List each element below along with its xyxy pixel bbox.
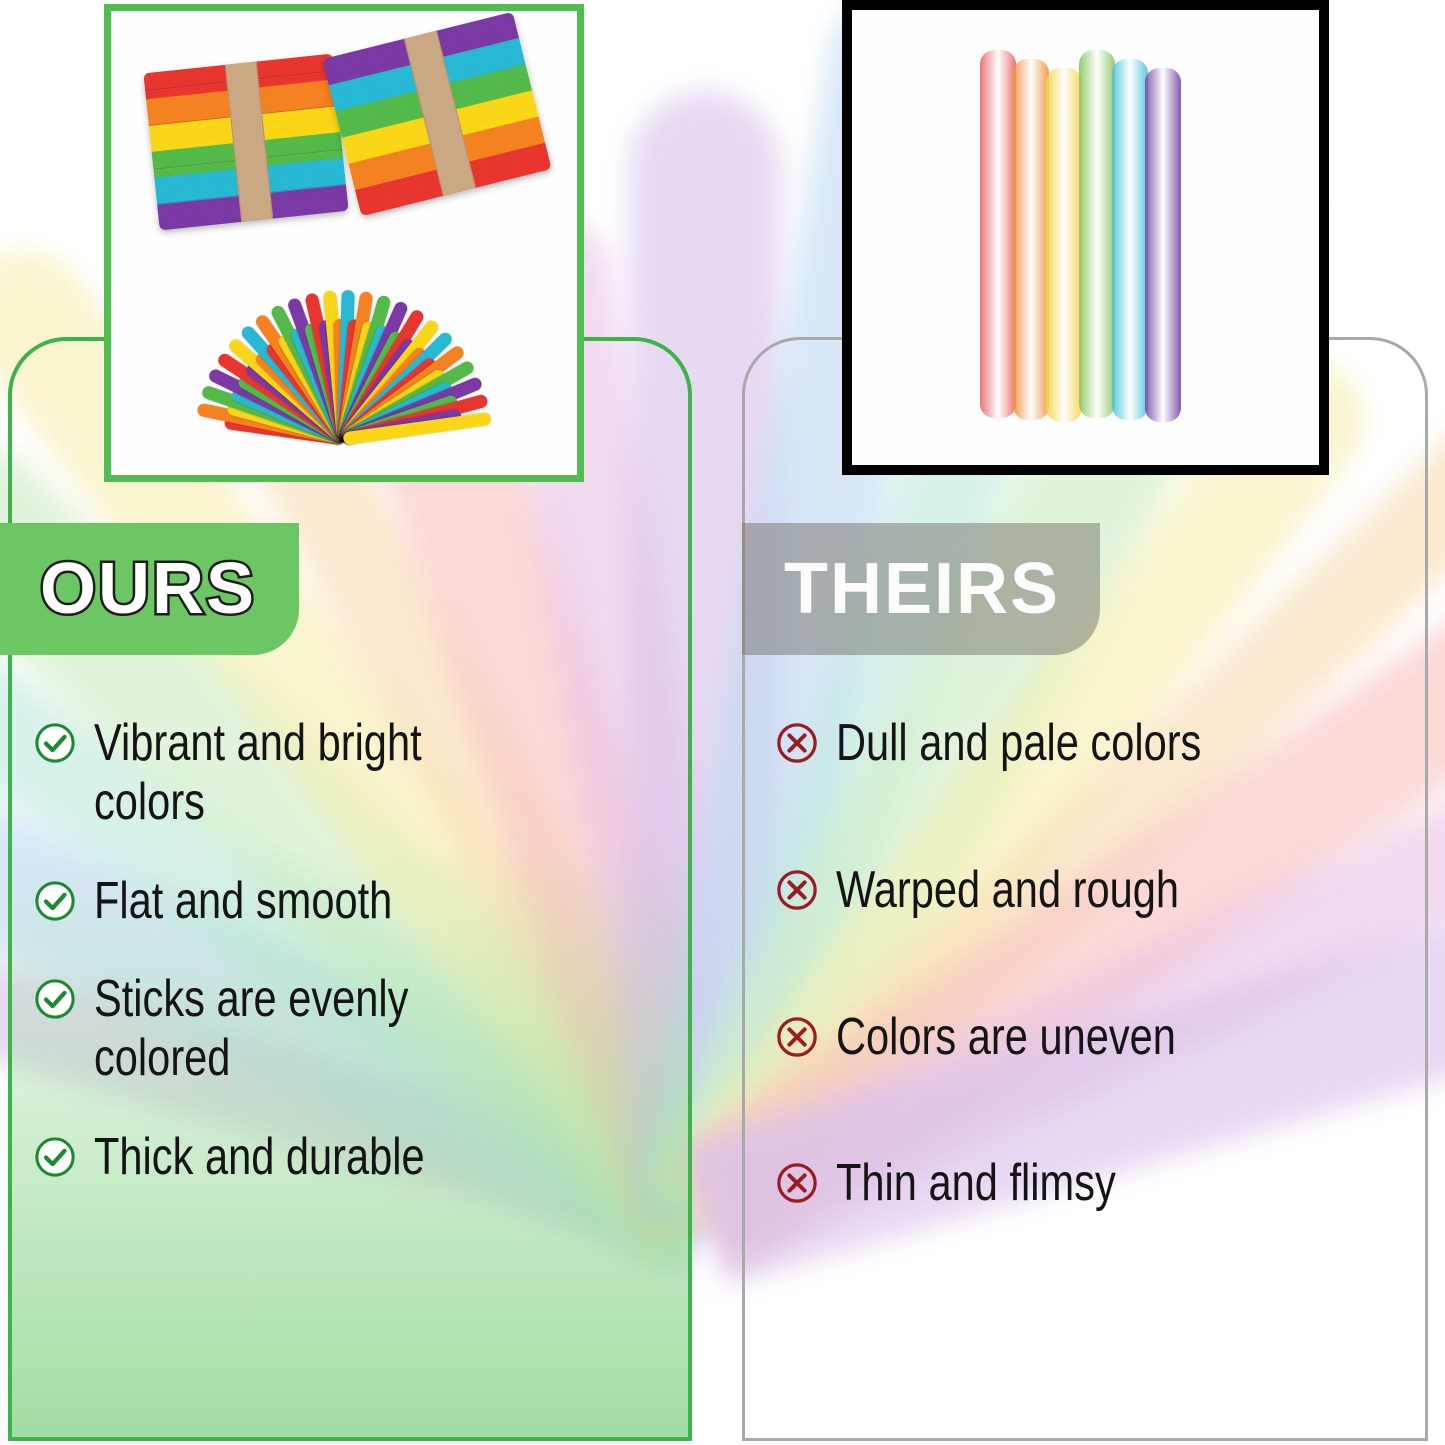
feature-label: Sticks are evenly colored xyxy=(94,970,550,1088)
comparison-infographic: OURS THEIRS Vibrant and bright colorsFla… xyxy=(0,0,1445,1445)
craft-stick xyxy=(1079,50,1115,418)
feature-item: Flat and smooth xyxy=(34,872,664,931)
check-circle-icon xyxy=(34,880,76,922)
craft-stick xyxy=(1145,68,1181,422)
feature-item: Vibrant and bright colors xyxy=(34,714,664,832)
theirs-banner: THEIRS xyxy=(742,523,1100,655)
craft-stick xyxy=(1112,59,1148,420)
x-circle-icon xyxy=(776,722,818,764)
feature-item: Thin and flimsy xyxy=(776,1154,1416,1213)
feature-item: Dull and pale colors xyxy=(776,714,1416,773)
feature-label: Warped and rough xyxy=(836,861,1300,920)
check-circle-icon xyxy=(34,978,76,1020)
x-circle-icon xyxy=(776,869,818,911)
x-circle-icon xyxy=(776,1162,818,1204)
feature-label: Colors are uneven xyxy=(836,1008,1300,1067)
x-circle-icon xyxy=(776,1162,818,1204)
feature-label: Thick and durable xyxy=(94,1128,550,1187)
feature-label: Flat and smooth xyxy=(94,872,550,931)
check-circle-icon xyxy=(34,880,76,922)
feature-label: Thin and flimsy xyxy=(836,1154,1300,1213)
feature-item: Sticks are evenly colored xyxy=(34,970,664,1088)
feature-item: Colors are uneven xyxy=(776,1008,1416,1067)
x-circle-icon xyxy=(776,869,818,911)
stick-bundle xyxy=(322,12,551,217)
craft-stick xyxy=(1013,59,1049,420)
x-circle-icon xyxy=(776,1016,818,1058)
feature-item: Thick and durable xyxy=(34,1128,664,1187)
check-circle-icon xyxy=(34,1136,76,1178)
feature-label: Vibrant and bright colors xyxy=(94,714,550,832)
x-circle-icon xyxy=(776,1016,818,1058)
check-circle-icon xyxy=(34,978,76,1020)
theirs-feature-list: Dull and pale colorsWarped and roughColo… xyxy=(776,714,1416,1301)
feature-label: Dull and pale colors xyxy=(836,714,1300,773)
theirs-banner-label: THEIRS xyxy=(784,553,1060,625)
check-circle-icon xyxy=(34,722,76,764)
ours-feature-list: Vibrant and bright colorsFlat and smooth… xyxy=(34,714,664,1227)
ours-banner: OURS xyxy=(0,523,299,655)
check-circle-icon xyxy=(34,722,76,764)
x-circle-icon xyxy=(776,722,818,764)
check-circle-icon xyxy=(34,1136,76,1178)
stick-bundle xyxy=(143,54,348,231)
feature-item: Warped and rough xyxy=(776,861,1416,920)
ours-product-image xyxy=(104,4,584,482)
craft-stick xyxy=(980,50,1016,418)
ours-banner-label: OURS xyxy=(40,553,256,625)
craft-stick xyxy=(1046,68,1082,422)
theirs-product-image xyxy=(842,0,1329,475)
